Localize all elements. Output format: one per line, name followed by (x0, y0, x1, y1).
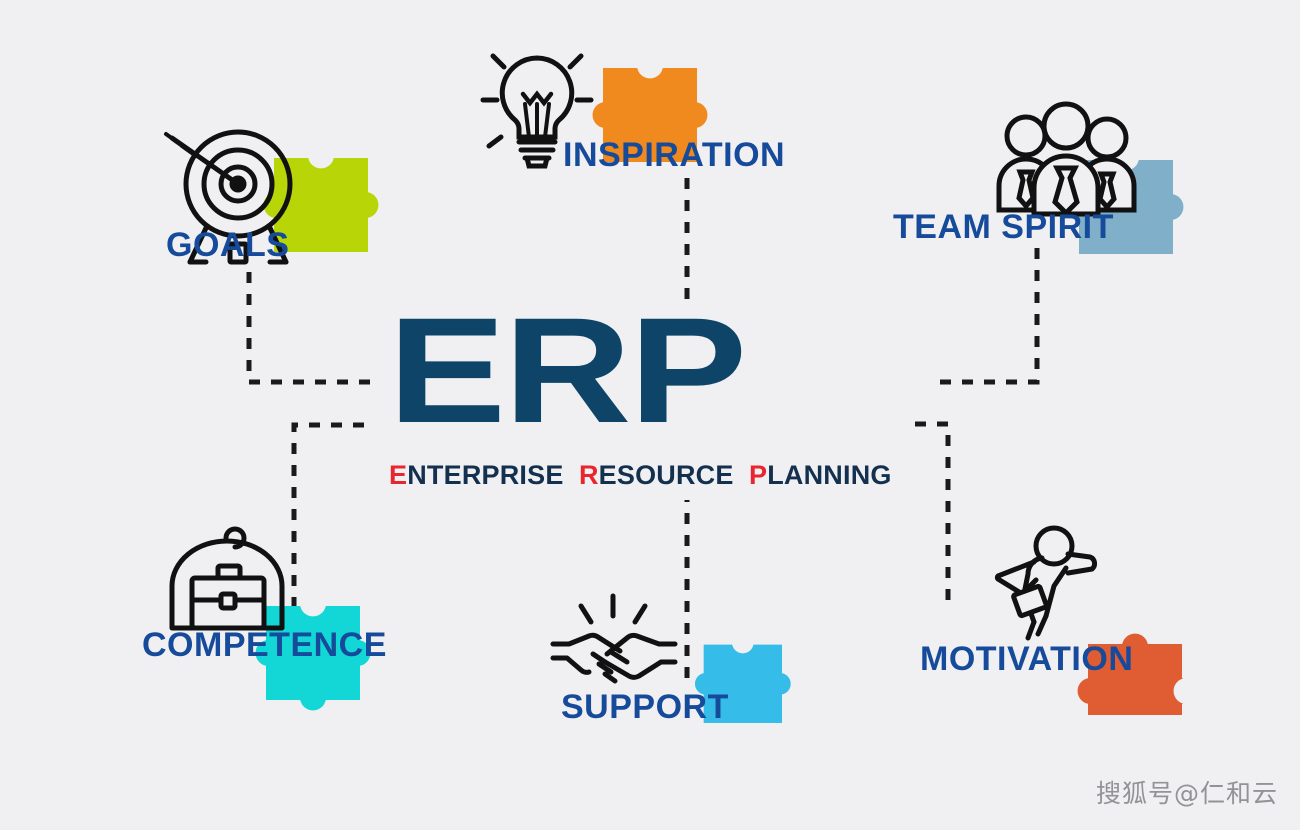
node-label-support: SUPPORT (561, 690, 729, 724)
node-label-inspiration: INSPIRATION (563, 138, 785, 172)
node-competence[interactable]: COMPETENCE (140, 510, 390, 710)
connector-team-spirit (930, 248, 1037, 382)
briefcase-icon (164, 516, 294, 641)
superhero-businessman-icon (982, 524, 1112, 649)
people-group-icon (993, 106, 1143, 221)
node-inspiration[interactable]: INSPIRATION (455, 38, 825, 188)
connector-goals (249, 272, 372, 382)
handshake-icon (549, 592, 679, 697)
node-label-motivation: MOTIVATION (920, 642, 1133, 676)
node-team-spirit[interactable]: TEAM SPIRIT (885, 100, 1205, 260)
node-label-competence: COMPETENCE (142, 628, 387, 662)
node-label-goals: GOALS (166, 228, 289, 262)
watermark: 搜狐号@仁和云 (1096, 774, 1278, 810)
infographic-canvas: ERP ENTERPRISE RESOURCE PLANNING (0, 0, 1300, 830)
node-support[interactable]: SUPPORT (545, 590, 805, 740)
node-label-team-spirit: TEAM SPIRIT (893, 210, 1114, 244)
node-goals[interactable]: GOALS (140, 110, 370, 280)
node-motivation[interactable]: MOTIVATION (910, 520, 1200, 720)
